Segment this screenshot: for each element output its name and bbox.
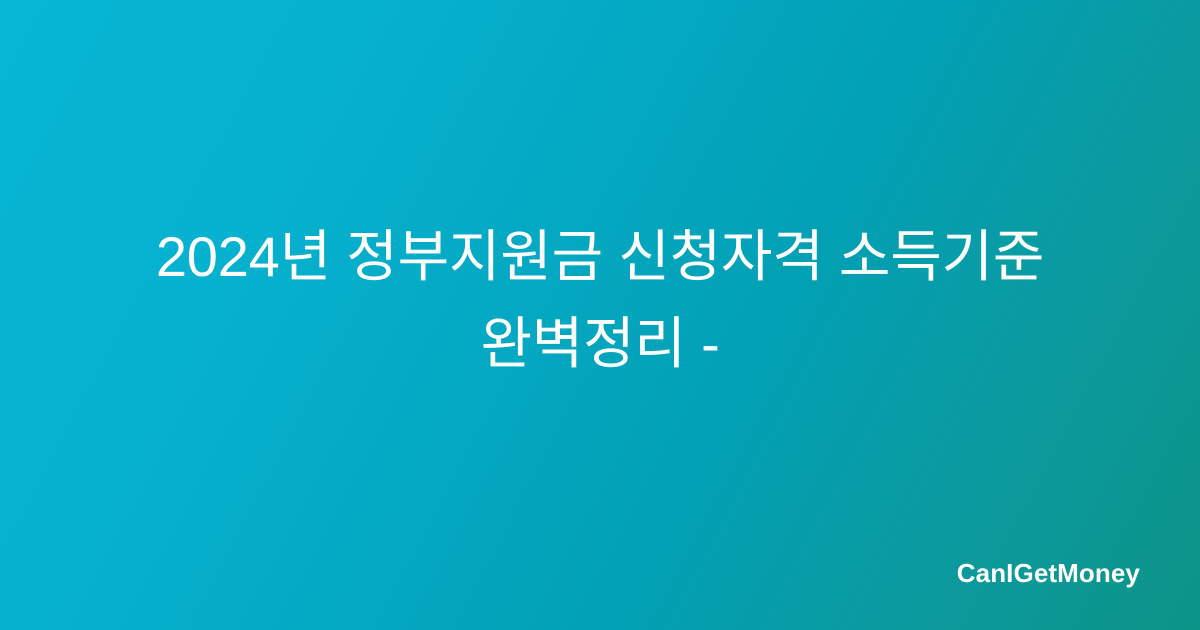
title-block: 2024년 정부지원금 신청자격 소득기준 완벽정리 - <box>88 214 1112 388</box>
page-title: 2024년 정부지원금 신청자격 소득기준 완벽정리 - <box>88 214 1112 388</box>
brand-wordmark: CanIGetMoney <box>957 560 1140 586</box>
share-card: 2024년 정부지원금 신청자격 소득기준 완벽정리 - CanIGetMone… <box>0 0 1200 630</box>
